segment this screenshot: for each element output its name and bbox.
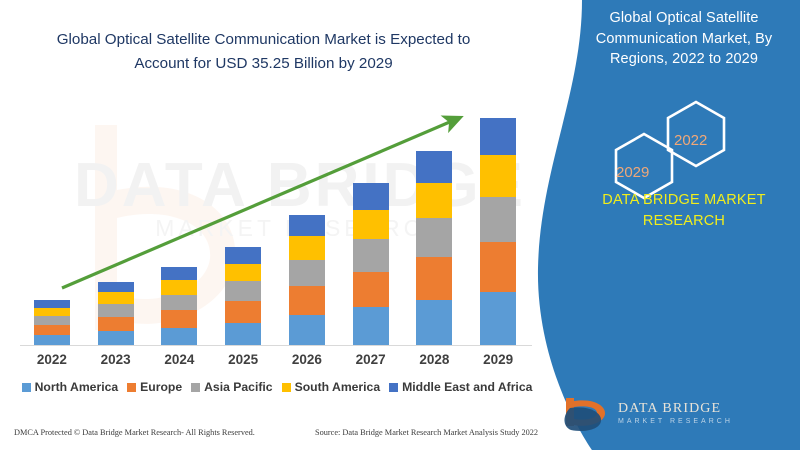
hexagon-label-2022: 2022	[674, 132, 707, 149]
bar-segment-europe[interactable]	[161, 310, 197, 327]
bar-segment-europe[interactable]	[289, 286, 325, 315]
x-axis-line	[20, 345, 532, 346]
bar-segment-asia-pacific[interactable]	[289, 260, 325, 286]
bar-2025[interactable]	[225, 247, 261, 346]
bar-segment-south-america[interactable]	[416, 183, 452, 218]
bar-segment-north-america[interactable]	[225, 323, 261, 346]
bar-segment-middle-east-and-africa[interactable]	[98, 282, 134, 292]
legend-item-middle-east-and-africa[interactable]: Middle East and Africa	[389, 380, 532, 394]
bar-segment-north-america[interactable]	[161, 328, 197, 346]
x-axis-label-2024: 2024	[147, 352, 211, 367]
legend-label: Europe	[140, 380, 182, 394]
bar-segment-europe[interactable]	[225, 301, 261, 323]
bar-2028[interactable]	[416, 151, 452, 346]
bar-segment-north-america[interactable]	[480, 292, 516, 346]
logo-line-2: MARKET RESEARCH	[618, 418, 730, 425]
bar-segment-north-america[interactable]	[98, 331, 134, 346]
bar-segment-south-america[interactable]	[353, 210, 389, 239]
legend-swatch-icon	[191, 383, 200, 392]
hexagon-label-2029: 2029	[616, 164, 649, 181]
x-axis-label-2026: 2026	[275, 352, 339, 367]
slide-canvas: DATA BRIDGE MARKET RESEARCH Global Optic…	[0, 0, 800, 450]
x-axis-label-2029: 2029	[466, 352, 530, 367]
bar-2029[interactable]	[480, 118, 516, 346]
right-info-panel: Global Optical Satellite Communication M…	[530, 0, 800, 450]
legend-label: South America	[295, 380, 381, 394]
bar-segment-europe[interactable]	[416, 257, 452, 300]
legend-label: North America	[35, 380, 119, 394]
footer-copyright: DMCA Protected © Data Bridge Market Rese…	[14, 428, 255, 437]
bar-segment-middle-east-and-africa[interactable]	[289, 215, 325, 237]
bar-segment-south-america[interactable]	[225, 264, 261, 282]
legend-item-europe[interactable]: Europe	[127, 380, 182, 394]
bar-segment-middle-east-and-africa[interactable]	[480, 118, 516, 155]
bar-2022[interactable]	[34, 300, 70, 346]
bar-segment-middle-east-and-africa[interactable]	[353, 183, 389, 210]
bar-segment-asia-pacific[interactable]	[98, 304, 134, 317]
bar-segment-north-america[interactable]	[353, 307, 389, 346]
panel-brand-text: DATA BRIDGE MARKET RESEARCH	[576, 190, 792, 232]
bar-segment-europe[interactable]	[98, 317, 134, 331]
bar-2026[interactable]	[289, 215, 325, 346]
bar-segment-south-america[interactable]	[98, 292, 134, 304]
x-axis-label-2023: 2023	[84, 352, 148, 367]
bar-2023[interactable]	[98, 282, 134, 346]
legend-item-north-america[interactable]: North America	[22, 380, 119, 394]
bar-segment-south-america[interactable]	[289, 236, 325, 260]
dbmr-logo-mark: DATA BRIDGE MARKET RESEARCH	[560, 392, 730, 432]
x-axis-label-2025: 2025	[211, 352, 275, 367]
dbmr-logo: DATA BRIDGE MARKET RESEARCH	[560, 392, 730, 432]
bar-segment-south-america[interactable]	[34, 308, 70, 316]
x-axis-labels: 20222023202420252026202720282029	[20, 352, 532, 374]
footer: DMCA Protected © Data Bridge Market Rese…	[0, 428, 560, 446]
bar-segment-south-america[interactable]	[161, 280, 197, 294]
bar-segment-middle-east-and-africa[interactable]	[161, 267, 197, 280]
chart-title: Global Optical Satellite Communication M…	[36, 28, 491, 75]
bar-segment-middle-east-and-africa[interactable]	[416, 151, 452, 183]
bar-segment-south-america[interactable]	[480, 155, 516, 197]
logo-line-1: DATA BRIDGE	[618, 401, 721, 416]
bar-segment-north-america[interactable]	[416, 300, 452, 346]
legend-swatch-icon	[22, 383, 31, 392]
bar-segment-europe[interactable]	[480, 242, 516, 292]
chart-legend: North AmericaEuropeAsia PacificSouth Ame…	[22, 380, 532, 394]
legend-label: Asia Pacific	[204, 380, 272, 394]
bar-segment-asia-pacific[interactable]	[416, 218, 452, 257]
x-axis-label-2028: 2028	[402, 352, 466, 367]
chart-plot-area	[20, 100, 530, 346]
legend-swatch-icon	[127, 383, 136, 392]
panel-heading: Global Optical Satellite Communication M…	[578, 8, 790, 70]
bar-segment-asia-pacific[interactable]	[480, 197, 516, 242]
bar-segment-north-america[interactable]	[289, 315, 325, 346]
legend-item-asia-pacific[interactable]: Asia Pacific	[191, 380, 272, 394]
legend-label: Middle East and Africa	[402, 380, 532, 394]
bar-segment-asia-pacific[interactable]	[353, 239, 389, 271]
x-axis-label-2027: 2027	[339, 352, 403, 367]
legend-swatch-icon	[389, 383, 398, 392]
bar-2024[interactable]	[161, 267, 197, 346]
footer-source: Source: Data Bridge Market Research Mark…	[315, 428, 538, 437]
legend-swatch-icon	[282, 383, 291, 392]
bar-segment-asia-pacific[interactable]	[34, 316, 70, 325]
x-axis-label-2022: 2022	[20, 352, 84, 367]
bar-segment-europe[interactable]	[353, 272, 389, 308]
bar-segment-asia-pacific[interactable]	[225, 281, 261, 301]
bar-2027[interactable]	[353, 183, 389, 346]
bar-segment-asia-pacific[interactable]	[161, 295, 197, 311]
legend-item-south-america[interactable]: South America	[282, 380, 381, 394]
bar-segment-europe[interactable]	[34, 325, 70, 335]
bar-segment-middle-east-and-africa[interactable]	[225, 247, 261, 264]
bar-segment-middle-east-and-africa[interactable]	[34, 300, 70, 307]
